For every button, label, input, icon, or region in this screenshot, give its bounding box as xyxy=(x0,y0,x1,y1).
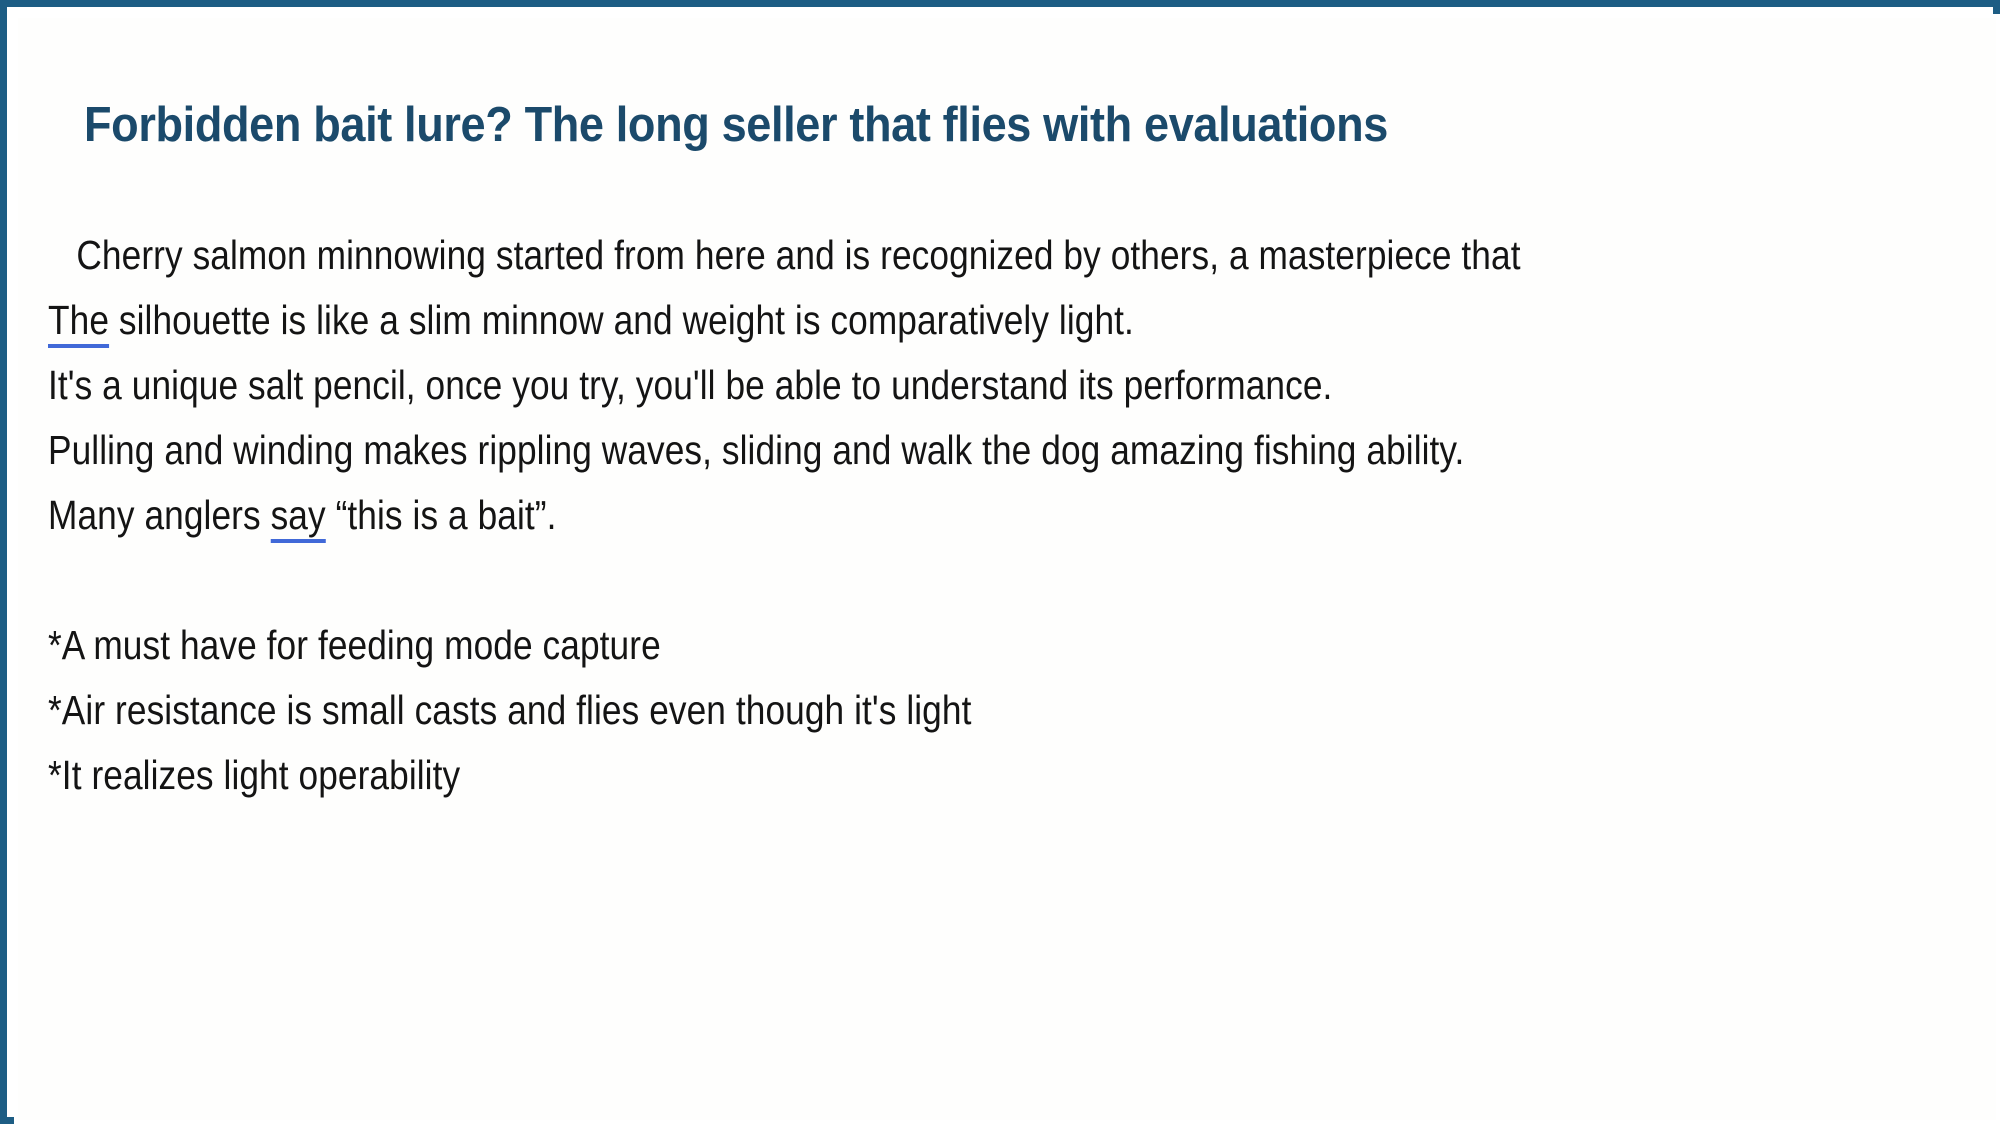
text-run: *It realizes light operability xyxy=(48,752,460,798)
text-run: silhouette is like a slim minnow and wei… xyxy=(109,297,1134,343)
p1-line-1: Cherry salmon minnowing started from her… xyxy=(48,223,1708,288)
text-run: Cherry salmon minnowing started from her… xyxy=(76,232,1520,278)
document-body: Forbidden bait lure? The long seller tha… xyxy=(36,18,1984,1118)
document-page-frame: Forbidden bait lure? The long seller tha… xyxy=(0,0,2000,1124)
text-run: *A must have for feeding mode capture xyxy=(48,622,661,668)
paragraph-3: *A must have for feeding mode capture*Ai… xyxy=(48,613,1978,808)
p1-line-2: The silhouette is like a slim minnow and… xyxy=(48,288,1708,353)
text-run: Pulling and winding makes rippling waves… xyxy=(48,427,1464,473)
suggestion-underlined-text[interactable]: The xyxy=(48,297,109,348)
paragraph-1: Cherry salmon minnowing started from her… xyxy=(48,223,1978,418)
text-run: It's a unique salt pencil, once you try,… xyxy=(48,362,1332,408)
text-run: *Air resistance is small casts and flies… xyxy=(48,687,971,733)
page-title: Forbidden bait lure? The long seller tha… xyxy=(84,96,1388,154)
p2-line-1: Pulling and winding makes rippling waves… xyxy=(48,418,1708,483)
text-run: Many anglers xyxy=(48,492,271,538)
document-page: Forbidden bait lure? The long seller tha… xyxy=(14,14,2000,1124)
p3-line-3: *It realizes light operability xyxy=(48,743,1708,808)
p2-line-2: Many anglers say “this is a bait”. xyxy=(48,483,1708,548)
p3-line-1: *A must have for feeding mode capture xyxy=(48,613,1708,678)
p1-line-3: It's a unique salt pencil, once you try,… xyxy=(48,353,1708,418)
paragraph-2: Pulling and winding makes rippling waves… xyxy=(48,418,1978,548)
suggestion-underlined-text[interactable]: say xyxy=(271,492,326,543)
text-run: “this is a bait”. xyxy=(326,492,557,538)
p3-line-2: *Air resistance is small casts and flies… xyxy=(48,678,1708,743)
